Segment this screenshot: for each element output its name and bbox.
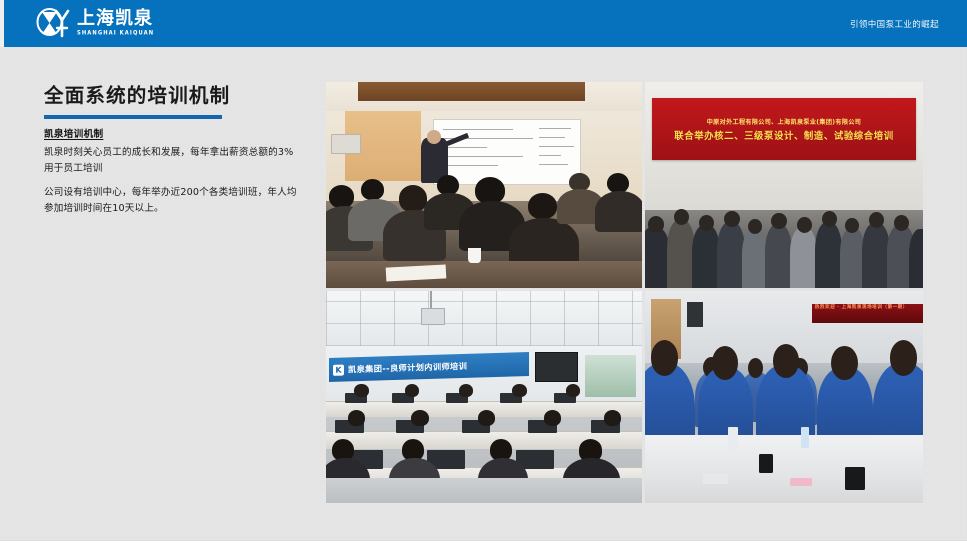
logo-english-text: SHANGHAI KAIQUAN bbox=[77, 31, 154, 37]
led-banner: 热烈欢迎 · 上海凯泉现场培训（第一期） bbox=[812, 304, 923, 323]
photo-worker-training: 热烈欢迎 · 上海凯泉现场培训（第一期） bbox=[645, 291, 923, 503]
paragraph-1: 凯泉时刻关心员工的成长和发展，每年拿出薪资总额的3%用于员工培训 bbox=[44, 145, 300, 176]
header-tagline: 引领中国泵工业的崛起 bbox=[850, 0, 939, 47]
photo-classroom-lecture bbox=[326, 82, 642, 288]
paragraph-2: 公司设有培训中心，每年举办近200个各类培训班，年人均参加培训时间在10天以上。 bbox=[44, 185, 300, 216]
blue-banner-text: 凯泉集团--良师计划内训师培训 bbox=[348, 360, 467, 376]
header-bar: 上海凯泉 SHANGHAI KAIQUAN 引领中国泵工业的崛起 bbox=[0, 0, 967, 47]
header-left-notch bbox=[0, 0, 4, 47]
slide-root: 上海凯泉 SHANGHAI KAIQUAN 引领中国泵工业的崛起 全面系统的培训… bbox=[0, 0, 967, 547]
red-banner-line-2: 联合举办核二、三级泵设计、制造、试验综合培训 bbox=[674, 128, 893, 142]
company-logo: 上海凯泉 SHANGHAI KAIQUAN bbox=[36, 8, 154, 39]
photo-computer-training-room: K 凯泉集团--良师计划内训师培训 bbox=[326, 291, 642, 503]
red-banner: 中原对外工程有限公司、上海凯泉泵业(集团)有限公司 联合举办核二、三级泵设计、制… bbox=[652, 98, 916, 160]
sub-heading: 凯泉培训机制 bbox=[44, 126, 300, 140]
kaiquan-hourglass-logo-icon bbox=[36, 8, 70, 39]
title-underline-rule bbox=[44, 115, 222, 119]
red-banner-line-1: 中原对外工程有限公司、上海凯泉泵业(集团)有限公司 bbox=[707, 117, 861, 126]
body-text-block: 凯泉培训机制 凯泉时刻关心员工的成长和发展，每年拿出薪资总额的3%用于员工培训 … bbox=[44, 126, 300, 225]
kaiquan-logo-small-icon: K bbox=[333, 364, 344, 375]
title-block: 全面系统的培训机制 bbox=[44, 84, 304, 119]
page-title: 全面系统的培训机制 bbox=[44, 84, 304, 107]
photo-group-banner: 中原对外工程有限公司、上海凯泉泵业(集团)有限公司 联合举办核二、三级泵设计、制… bbox=[645, 82, 923, 288]
led-banner-text: 热烈欢迎 · 上海凯泉现场培训（第一期） bbox=[812, 304, 923, 313]
logo-chinese-text: 上海凯泉 bbox=[77, 10, 154, 28]
footer-divider bbox=[0, 540, 967, 547]
photo-grid: 中原对外工程有限公司、上海凯泉泵业(集团)有限公司 联合举办核二、三级泵设计、制… bbox=[326, 82, 922, 503]
